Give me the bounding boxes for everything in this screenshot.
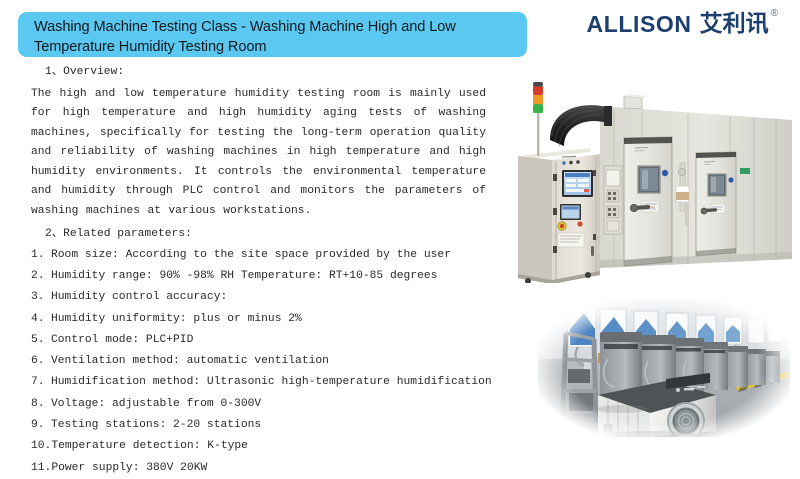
brand-logo: ALLISON 艾利讯 ® bbox=[586, 11, 778, 43]
list-item-number: 7. bbox=[31, 372, 51, 393]
list-item: 9.Testing stations: 2-20 stations bbox=[31, 415, 486, 436]
registered-trademark-icon: ® bbox=[771, 9, 778, 19]
parameter-list: 1.Room size: According to the site space… bbox=[31, 245, 486, 479]
list-item-label: Humidity uniformity: plus or minus 2% bbox=[51, 309, 302, 330]
walk-in-test-chamber-photo bbox=[492, 78, 792, 283]
list-item-number: 1. bbox=[31, 245, 51, 266]
washing-machine-test-line-photo bbox=[538, 299, 790, 437]
list-item-number: 9. bbox=[31, 415, 51, 436]
test-line-illustration bbox=[538, 299, 790, 437]
list-item-number: 2. bbox=[31, 266, 51, 287]
title-banner: Washing Machine Testing Class - Washing … bbox=[18, 12, 527, 57]
list-item-label: Voltage: adjustable from 0-300V bbox=[51, 394, 261, 415]
section-heading-overview: 1、Overview: bbox=[31, 63, 486, 83]
list-item-label: Power supply: 380V 20KW bbox=[51, 458, 207, 479]
list-item: 4.Humidity uniformity: plus or minus 2% bbox=[31, 309, 486, 330]
list-item-label: Ventilation method: automatic ventilatio… bbox=[51, 351, 329, 372]
list-item: 3.Humidity control accuracy: bbox=[31, 287, 486, 308]
list-item-number: 5. bbox=[31, 330, 51, 351]
list-item-number: 6. bbox=[31, 351, 51, 372]
list-item-label: Room size: According to the site space p… bbox=[51, 245, 451, 266]
list-item-label: Temperature detection: K-type bbox=[51, 436, 248, 457]
logo-chinese-name: 艾利讯 bbox=[700, 11, 769, 37]
list-item: 2.Humidity range: 90% -98% RH Temperatur… bbox=[31, 266, 486, 287]
list-item-label: Testing stations: 2-20 stations bbox=[51, 415, 261, 436]
list-item: 1.Room size: According to the site space… bbox=[31, 245, 486, 266]
list-item: 10.Temperature detection: K-type bbox=[31, 436, 486, 457]
list-item-label: Humidification method: Ultrasonic high-t… bbox=[51, 372, 492, 393]
list-item: 6.Ventilation method: automatic ventilat… bbox=[31, 351, 486, 372]
list-item-label: Humidity range: 90% -98% RH Temperature:… bbox=[51, 266, 437, 287]
list-item-label: Humidity control accuracy: bbox=[51, 287, 227, 308]
chamber-illustration bbox=[492, 78, 792, 283]
list-item: 5.Control mode: PLC+PID bbox=[31, 330, 486, 351]
list-item-number: 8. bbox=[31, 394, 51, 415]
section-heading-parameters: 2、Related parameters: bbox=[31, 224, 486, 245]
list-item-number: 3. bbox=[31, 287, 51, 308]
document-body: 1、Overview: The high and low temperature… bbox=[31, 63, 486, 479]
list-item-number: 4. bbox=[31, 309, 51, 330]
list-item: 11.Power supply: 380V 20KW bbox=[31, 458, 486, 479]
list-item-label: Control mode: PLC+PID bbox=[51, 330, 193, 351]
overview-paragraph: The high and low temperature humidity te… bbox=[31, 85, 486, 222]
list-item: 8.Voltage: adjustable from 0-300V bbox=[31, 394, 486, 415]
list-item: 7.Humidification method: Ultrasonic high… bbox=[31, 372, 486, 393]
logo-wordmark: ALLISON bbox=[586, 11, 691, 37]
page-title: Washing Machine Testing Class - Washing … bbox=[34, 17, 513, 57]
list-item-number: 10. bbox=[31, 436, 51, 457]
list-item-number: 11. bbox=[31, 458, 51, 479]
